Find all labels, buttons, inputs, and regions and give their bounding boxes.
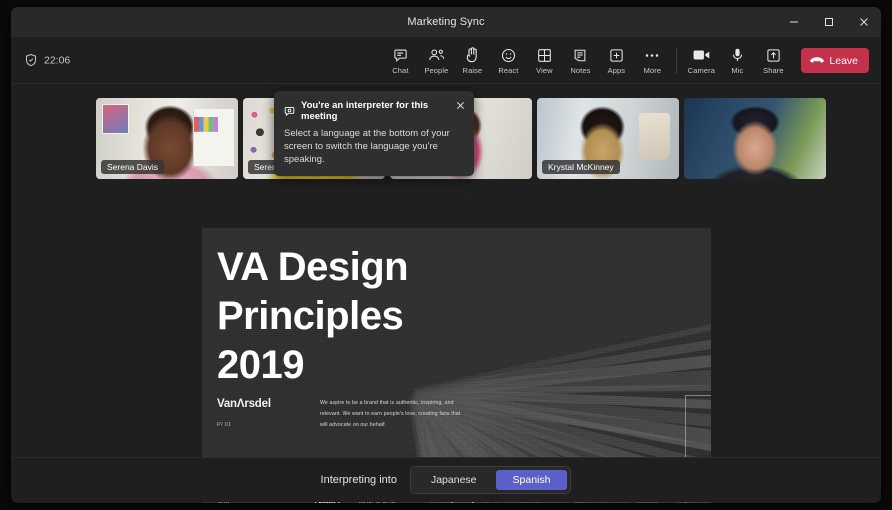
people-button[interactable]: People: [418, 39, 454, 83]
close-icon[interactable]: [452, 97, 468, 113]
chat-button[interactable]: Chat: [382, 39, 418, 83]
meeting-timer: 22:06: [25, 54, 70, 67]
chat-label: Chat: [392, 66, 408, 75]
notification-title: You're an interpreter for this meeting: [301, 100, 448, 122]
interpreting-label: Interpreting into: [321, 474, 397, 486]
slide-title: VA Design Principles 2019: [217, 243, 408, 389]
meeting-stage: Serena Davis Serena Ribeiro Jessica Klin…: [11, 84, 881, 502]
mic-button[interactable]: Mic: [719, 39, 755, 83]
mic-label: Mic: [731, 66, 743, 75]
toolbar-actions: Chat People: [382, 37, 869, 84]
toolbar-divider: [676, 48, 677, 74]
timer-value: 22:06: [44, 54, 70, 66]
interpreter-notification: You're an interpreter for this meeting S…: [274, 91, 474, 176]
participant-name: Serena Davis: [101, 160, 164, 174]
shield-icon: [25, 54, 37, 67]
notification-header: You're an interpreter for this meeting: [284, 100, 464, 122]
microphone-icon: [732, 47, 743, 64]
interpreter-icon: [284, 106, 295, 117]
more-button[interactable]: More: [634, 39, 670, 83]
window-title: Marketing Sync: [407, 16, 484, 28]
share-screen-icon: [766, 47, 781, 64]
apps-plus-icon: [609, 47, 624, 64]
notes-button[interactable]: Notes: [562, 39, 598, 83]
participant-video: [684, 98, 826, 179]
language-toggle: Japanese Spanish: [410, 466, 572, 494]
apps-label: Apps: [608, 66, 626, 75]
participant-name: Krystal McKinney: [542, 160, 620, 174]
notes-icon: [573, 47, 587, 64]
brand-logo: VanΛrsdel: [217, 398, 271, 410]
participant-tile[interactable]: [684, 98, 826, 179]
react-button[interactable]: React: [490, 39, 526, 83]
more-ellipsis-icon: [644, 47, 660, 64]
apps-button[interactable]: Apps: [598, 39, 634, 83]
window-controls: [776, 7, 881, 37]
close-button[interactable]: [846, 7, 881, 37]
camera-label: Camera: [688, 66, 715, 75]
participant-tile[interactable]: Serena Davis: [96, 98, 238, 179]
camera-button[interactable]: Camera: [683, 39, 719, 83]
leave-label: Leave: [829, 55, 858, 67]
slide-body-text: We aspire to be a brand that is authenti…: [320, 398, 468, 431]
raise-hand-button[interactable]: Raise: [454, 39, 490, 83]
view-label: View: [536, 66, 553, 75]
page-number: P/ 01: [217, 422, 231, 428]
react-label: React: [498, 66, 518, 75]
participant-tile[interactable]: Krystal McKinney: [537, 98, 679, 179]
share-label: Share: [763, 66, 784, 75]
title-bar: Marketing Sync: [11, 7, 881, 37]
more-label: More: [644, 66, 662, 75]
people-icon: [428, 47, 445, 64]
hangup-icon: [810, 55, 824, 67]
notes-label: Notes: [570, 66, 590, 75]
camera-icon: [693, 47, 710, 64]
language-option-spanish[interactable]: Spanish: [496, 470, 568, 490]
raise-hand-icon: [466, 47, 479, 64]
react-smiley-icon: [501, 47, 516, 64]
view-grid-icon: [537, 47, 552, 64]
interpreting-bar: Interpreting into Japanese Spanish: [11, 457, 881, 502]
language-option-japanese[interactable]: Japanese: [414, 470, 494, 490]
raise-label: Raise: [463, 66, 483, 75]
teams-meeting-window: Marketing Sync 22:06: [11, 7, 881, 503]
minimize-button[interactable]: [776, 7, 811, 37]
people-label: People: [424, 66, 448, 75]
share-button[interactable]: Share: [755, 39, 791, 83]
meeting-toolbar: 22:06 Chat: [11, 37, 881, 84]
view-button[interactable]: View: [526, 39, 562, 83]
maximize-button[interactable]: [811, 7, 846, 37]
notification-body: Select a language at the bottom of your …: [284, 127, 464, 166]
leave-button[interactable]: Leave: [801, 48, 869, 73]
chat-icon: [393, 47, 408, 64]
